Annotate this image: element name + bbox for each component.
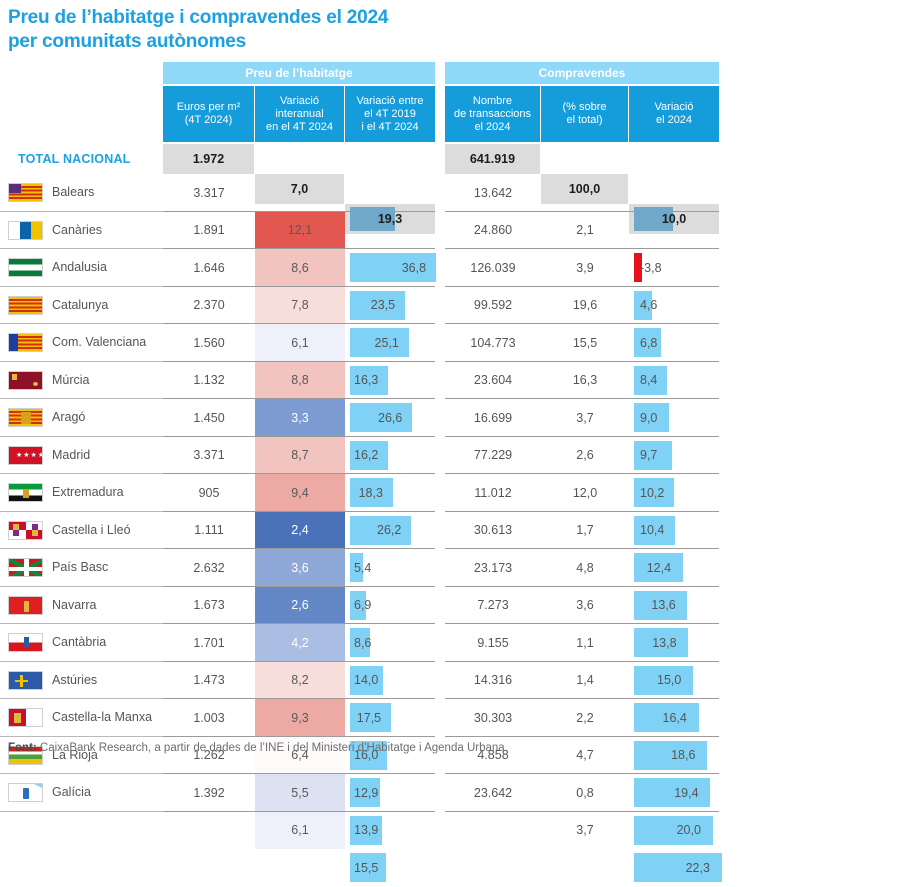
source-note: Font: CaixaBank Research, a partir de da… bbox=[8, 742, 888, 754]
cell-euros-m2: 3.371 bbox=[163, 437, 255, 475]
column-header-line: Variació entre bbox=[356, 95, 423, 108]
cell-euros-m2: 1.473 bbox=[163, 662, 255, 700]
data-table: Preu de l’habitatge Compravendes Euros p… bbox=[0, 62, 900, 812]
comunitat-name: Galícia bbox=[52, 774, 91, 812]
table-group-header-row: Preu de l’habitatge Compravendes bbox=[0, 62, 900, 84]
flag-icon-navarra bbox=[8, 596, 43, 615]
flag-icon-catalunya bbox=[8, 296, 43, 315]
table-row: Extremadura9052,45,411.0121,712,4 bbox=[0, 474, 900, 512]
table-row: Galícia1.3926,115,523.6423,722,3 bbox=[0, 774, 900, 812]
table-row: Catalunya2.3706,116,399.59215,58,4 bbox=[0, 287, 900, 325]
bar-label-variacio-2024: 20,0 bbox=[677, 812, 701, 850]
column-header-line: (4T 2024) bbox=[177, 114, 241, 127]
row-name-cell: Castella-la Manxa bbox=[0, 699, 163, 737]
comunitat-name: Andalusia bbox=[52, 249, 107, 287]
cell-euros-m2: 1.560 bbox=[163, 324, 255, 362]
row-name-cell: Castella i Lleó bbox=[0, 512, 163, 550]
source-label: Font: bbox=[8, 742, 37, 754]
cell-pct-total: 3,7 bbox=[541, 812, 629, 850]
bar-label-variacio-2019-2024: 15,5 bbox=[354, 849, 378, 887]
row-name-cell: Com. Valenciana bbox=[0, 324, 163, 362]
comunitat-name: Catalunya bbox=[52, 287, 108, 325]
column-header-line: interanual bbox=[266, 108, 333, 121]
table-row: Com. Valenciana1.5608,826,6104.77316,39,… bbox=[0, 324, 900, 362]
row-name-cell: Canàries bbox=[0, 212, 163, 250]
cell-euros-m2: 1.646 bbox=[163, 249, 255, 287]
comunitat-name: Castella-la Manxa bbox=[52, 699, 152, 737]
cell-euros-m2: 1.450 bbox=[163, 399, 255, 437]
table-row: Cantàbria1.7018,217,59.1551,416,4 bbox=[0, 624, 900, 662]
comunitat-name: Madrid bbox=[52, 437, 90, 475]
table-row: Canàries1.8918,623,524.8603,94,6 bbox=[0, 212, 900, 250]
cell-euros-m2: 1.132 bbox=[163, 362, 255, 400]
comunitat-name: Castella i Lleó bbox=[52, 512, 131, 550]
cell-euros-m2: 905 bbox=[163, 474, 255, 512]
comunitat-name: Cantàbria bbox=[52, 624, 106, 662]
table-row: Astúries1.4739,316,014.3162,218,6 bbox=[0, 662, 900, 700]
table-row: ★★★★Madrid3.3719,426,277.22912,010,4 bbox=[0, 437, 900, 475]
cell-transaccions: 9.155 bbox=[445, 624, 541, 662]
column-header-line: i el 4T 2024 bbox=[356, 121, 423, 134]
cell-transaccions: 24.860 bbox=[445, 212, 541, 250]
cell-transaccions: 16.699 bbox=[445, 399, 541, 437]
table-row: Balears3.31712,136,813.6422,1-3,8 bbox=[0, 174, 900, 212]
comunitat-name: Aragó bbox=[52, 399, 85, 437]
bar-label-variacio-2024: 22,3 bbox=[686, 849, 710, 887]
comunitat-name: Com. Valenciana bbox=[52, 324, 146, 362]
total-nacional-label: TOTAL NACIONAL bbox=[18, 144, 131, 174]
cell-transaccions: 23.642 bbox=[445, 774, 541, 812]
cell-euros-m2: 1.891 bbox=[163, 212, 255, 250]
page-title: Preu de l’habitatge i compravendes el 20… bbox=[8, 6, 648, 54]
row-name-cell: Extremadura bbox=[0, 474, 163, 512]
bar-label-variacio-2019-2024: 13,9 bbox=[354, 812, 378, 850]
table-row: País Basc2.6322,68,623.1733,613,8 bbox=[0, 549, 900, 587]
row-name-cell: Navarra bbox=[0, 587, 163, 625]
flag-icon-balears bbox=[8, 183, 43, 202]
column-header-pct-sobre-total: (% sobre el total) bbox=[541, 86, 629, 142]
column-header-line: en el 4T 2024 bbox=[266, 121, 333, 134]
cell-euros-m2: 1.673 bbox=[163, 587, 255, 625]
row-name-cell: Galícia bbox=[0, 774, 163, 812]
column-header-line: Variació bbox=[266, 95, 333, 108]
row-name-cell: Andalusia bbox=[0, 249, 163, 287]
cell-variacio-2019-2024: 15,5 bbox=[345, 849, 435, 887]
flag-icon-murcia bbox=[8, 371, 43, 390]
column-header-euros-m2: Euros per m² (4T 2024) bbox=[163, 86, 255, 142]
cell-transaccions: 23.604 bbox=[445, 362, 541, 400]
flag-icon-extremadura bbox=[8, 483, 43, 502]
row-name-cell: Múrcia bbox=[0, 362, 163, 400]
table-row: Andalusia1.6467,825,1126.03919,66,8 bbox=[0, 249, 900, 287]
column-header-line: Nombre bbox=[454, 95, 531, 108]
column-header-spacer bbox=[0, 86, 163, 142]
cell-transaccions: 99.592 bbox=[445, 287, 541, 325]
row-name-cell: Aragó bbox=[0, 399, 163, 437]
column-header-line: Variació bbox=[655, 101, 694, 114]
flag-icon-andalusia bbox=[8, 258, 43, 277]
column-header-variacio-2024: Variació el 2024 bbox=[629, 86, 719, 142]
flag-icon-manxa bbox=[8, 708, 43, 727]
flag-icon-arago bbox=[8, 408, 43, 427]
column-header-variacio-2019-2024: Variació entre el 4T 2019 i el 4T 2024 bbox=[345, 86, 435, 142]
cell-transaccions: 30.613 bbox=[445, 512, 541, 550]
table-row: Navarra1.6734,214,07.2731,115,0 bbox=[0, 587, 900, 625]
row-name-cell: Balears bbox=[0, 174, 163, 212]
column-header-line: el total) bbox=[562, 114, 606, 127]
total-name-cell: TOTAL NACIONAL bbox=[0, 144, 163, 174]
cell-variacio-interanual: 6,1 bbox=[255, 812, 345, 850]
comunitat-name: Canàries bbox=[52, 212, 102, 250]
column-header-line: el 2024 bbox=[655, 114, 694, 127]
cell-transaccions: 126.039 bbox=[445, 249, 541, 287]
comunitat-name: Múrcia bbox=[52, 362, 90, 400]
title-line-1: Preu de l’habitatge i compravendes el 20… bbox=[8, 7, 388, 28]
table-row: Múrcia1.1323,316,223.6043,79,7 bbox=[0, 362, 900, 400]
row-name-cell: Catalunya bbox=[0, 287, 163, 325]
cell-euros-m2: 1.003 bbox=[163, 699, 255, 737]
column-header-line: de transaccions bbox=[454, 108, 531, 121]
column-header-line: el 2024 bbox=[454, 121, 531, 134]
table-column-header-row: Euros per m² (4T 2024) Variació interanu… bbox=[0, 86, 900, 142]
cell-transaccions: 30.303 bbox=[445, 699, 541, 737]
flag-icon-valenciana bbox=[8, 333, 43, 352]
flag-icon-asturies bbox=[8, 671, 43, 690]
cell-euros-m2: 2.370 bbox=[163, 287, 255, 325]
source-text: CaixaBank Research, a partir de dades de… bbox=[37, 742, 508, 754]
comunitat-name: Navarra bbox=[52, 587, 96, 625]
flag-icon-paisbasc bbox=[8, 558, 43, 577]
table-body: Balears3.31712,136,813.6422,1-3,8Canàrie… bbox=[0, 174, 900, 812]
flag-icon-galicia bbox=[8, 783, 43, 802]
cell-transaccions: 13.642 bbox=[445, 174, 541, 212]
cell-transaccions: 7.273 bbox=[445, 587, 541, 625]
table-row: Castella-la Manxa1.0036,412,930.3034,719… bbox=[0, 699, 900, 737]
table-row-total-nacional: TOTAL NACIONAL 1.972 7,0 19,3 641.919 10… bbox=[0, 144, 900, 174]
row-name-cell: ★★★★Madrid bbox=[0, 437, 163, 475]
cell-variacio-2019-2024: 13,9 bbox=[345, 812, 435, 850]
comunitat-name: País Basc bbox=[52, 549, 108, 587]
row-name-cell: País Basc bbox=[0, 549, 163, 587]
table-row: Aragó1.4508,718,316.6992,610,2 bbox=[0, 399, 900, 437]
cell-euros-m2: 1.111 bbox=[163, 512, 255, 550]
group-header-preu-habitatge: Preu de l’habitatge bbox=[163, 62, 435, 84]
cell-euros-m2: 2.632 bbox=[163, 549, 255, 587]
flag-icon-canaries bbox=[8, 221, 43, 240]
title-line-2: per comunitats autònomes bbox=[8, 30, 648, 54]
cell-euros-m2: 3.317 bbox=[163, 174, 255, 212]
row-name-cell: Cantàbria bbox=[0, 624, 163, 662]
cell-euros-m2: 1.392 bbox=[163, 774, 255, 812]
comunitat-name: Astúries bbox=[52, 662, 97, 700]
cell-transaccions: 14.316 bbox=[445, 662, 541, 700]
table-row: Castella i Lleó1.1113,66,930.6134,813,6 bbox=[0, 512, 900, 550]
column-header-line: (% sobre bbox=[562, 101, 606, 114]
group-header-compravendes: Compravendes bbox=[445, 62, 719, 84]
cell-variacio-2024: 22,3 bbox=[629, 849, 719, 887]
total-transaccions: 641.919 bbox=[445, 144, 541, 174]
comunitat-name: Extremadura bbox=[52, 474, 124, 512]
column-header-variacio-interanual: Variació interanual en el 4T 2024 bbox=[255, 86, 345, 142]
flag-icon-castellalleo bbox=[8, 521, 43, 540]
row-name-cell: Astúries bbox=[0, 662, 163, 700]
cell-transaccions: 104.773 bbox=[445, 324, 541, 362]
flag-icon-cantabria bbox=[8, 633, 43, 652]
flag-icon-madrid: ★★★★ bbox=[8, 446, 43, 465]
cell-transaccions: 23.173 bbox=[445, 549, 541, 587]
column-header-nombre-transaccions: Nombre de transaccions el 2024 bbox=[445, 86, 541, 142]
total-euros-m2: 1.972 bbox=[163, 144, 255, 174]
comunitat-name: Balears bbox=[52, 174, 94, 212]
cell-transaccions: 11.012 bbox=[445, 474, 541, 512]
cell-variacio-2024: 20,0 bbox=[629, 812, 719, 850]
column-header-line: Euros per m² bbox=[177, 101, 241, 114]
cell-transaccions: 77.229 bbox=[445, 437, 541, 475]
cell-euros-m2: 1.701 bbox=[163, 624, 255, 662]
column-header-line: el 4T 2019 bbox=[356, 108, 423, 121]
